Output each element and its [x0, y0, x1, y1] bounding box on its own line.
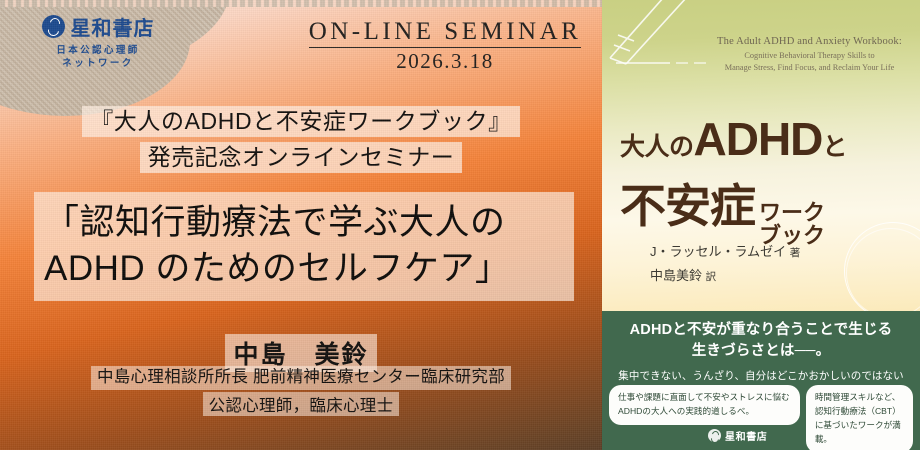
band-feature-box-left: 仕事や課題に直面して不安やストレスに悩むADHDの大人への実践的道しるべ。 [609, 385, 800, 425]
book-promo-line-1-text: 『大人のADHDと不安症ワークブック』 [82, 106, 520, 137]
cover-title-workbook-line-1: ワーク [759, 201, 825, 224]
cover-title-row-1: 大人の ADHD と [620, 112, 847, 166]
band-publisher-logo: 星和書店 [708, 428, 767, 443]
seminar-date: 2026.3.18 [300, 49, 590, 74]
seminar-poster: 星和書店 日本公認心理師 ネットワーク ON-LINE SEMINAR 2026… [0, 0, 920, 450]
cover-translator-line: 中島美鈴 訳 [650, 264, 800, 288]
cover-english-sub: Cognitive Behavioral Therapy Skills to M… [707, 50, 912, 74]
book-promo-line-2: 発売記念オンラインセミナー [0, 142, 602, 173]
publisher-network-label: 日本公認心理師 ネットワーク [56, 44, 139, 71]
band-publisher-name: 星和書店 [725, 428, 767, 443]
decorative-perforated-strip [0, 0, 602, 7]
speaker-affiliation-row: 中島心理相談所所長 肥前精神医療センター臨床研究部 [0, 366, 602, 390]
band-feature-box-right: 時間管理スキルなど、認知行動療法（CBT）に基づいたワークが満載。 [806, 385, 913, 450]
cover-author-name: J・ラッセル・ラムゼイ [650, 244, 786, 259]
cover-english-main: The Adult ADHD and Anxiety Workbook: [707, 36, 912, 47]
cover-title-row-2: 不安症 ワーク ブック [620, 170, 847, 250]
cover-obi-band: ADHDと不安が重なり合うことで生じる 生きづらさとは──。 集中できない、うん… [602, 311, 920, 450]
cover-author-line: J・ラッセル・ラムゼイ 著 [650, 240, 800, 264]
cover-credits: J・ラッセル・ラムゼイ 著 中島美鈴 訳 [650, 240, 800, 288]
seminar-header: ON-LINE SEMINAR 2026.3.18 [300, 18, 590, 74]
seiwa-shoten-circle-logo-icon-small [708, 429, 721, 442]
cover-translator-role: 訳 [706, 271, 717, 283]
cover-title-prefix: 大人の [620, 127, 694, 163]
page-title-line-2: ADHD のためのセルフケア」 [44, 246, 564, 292]
publisher-network-line-2: ネットワーク [56, 57, 139, 70]
cover-english-subtitle: The Adult ADHD and Anxiety Workbook: Cog… [707, 36, 912, 74]
book-promo-line-2-text: 発売記念オンラインセミナー [140, 142, 463, 173]
publisher-logo-row: 星和書店 [42, 12, 155, 41]
book-cover: The Adult ADHD and Anxiety Workbook: Cog… [602, 0, 920, 450]
book-cover-top: The Adult ADHD and Anxiety Workbook: Cog… [602, 0, 920, 311]
cover-author-role: 著 [790, 247, 801, 259]
page-title-line-1: 「認知行動療法で学ぶ大人の [44, 200, 564, 246]
cover-title-anxiety: 不安症 [620, 170, 755, 236]
book-promo-line-1: 『大人のADHDと不安症ワークブック』 [0, 106, 602, 137]
left-panel: 星和書店 日本公認心理師 ネットワーク ON-LINE SEMINAR 2026… [0, 0, 602, 450]
speaker-affiliation: 中島心理相談所所長 肥前精神医療センター臨床研究部 [91, 366, 511, 390]
cover-title-adhd: ADHD [694, 112, 823, 166]
band-headline-line-1: ADHDと不安が重なり合うことで生じる [602, 320, 920, 341]
page-title: 「認知行動療法で学ぶ大人の ADHD のためのセルフケア」 [34, 192, 574, 301]
publisher-network-line-1: 日本公認心理師 [56, 44, 139, 57]
speaker-qualifications-row: 公認心理師，臨床心理士 [0, 392, 602, 416]
publisher-logo: 星和書店 日本公認心理師 ネットワーク [28, 12, 168, 71]
cover-english-sub-line-2: Manage Stress, Find Focus, and Reclaim Y… [707, 62, 912, 74]
seiwa-shoten-circle-logo-icon [42, 15, 65, 38]
cover-title: 大人の ADHD と 不安症 ワーク ブック [620, 112, 847, 250]
cover-title-conjunction: と [822, 127, 847, 163]
cover-english-sub-line-1: Cognitive Behavioral Therapy Skills to [707, 50, 912, 62]
band-headline: ADHDと不安が重なり合うことで生じる 生きづらさとは──。 [602, 320, 920, 362]
speaker-qualifications: 公認心理師，臨床心理士 [203, 392, 400, 416]
band-headline-line-2: 生きづらさとは──。 [602, 341, 920, 362]
cover-translator-name: 中島美鈴 [650, 268, 702, 283]
seminar-type-label: ON-LINE SEMINAR [309, 18, 582, 48]
publisher-name: 星和書店 [71, 12, 155, 41]
